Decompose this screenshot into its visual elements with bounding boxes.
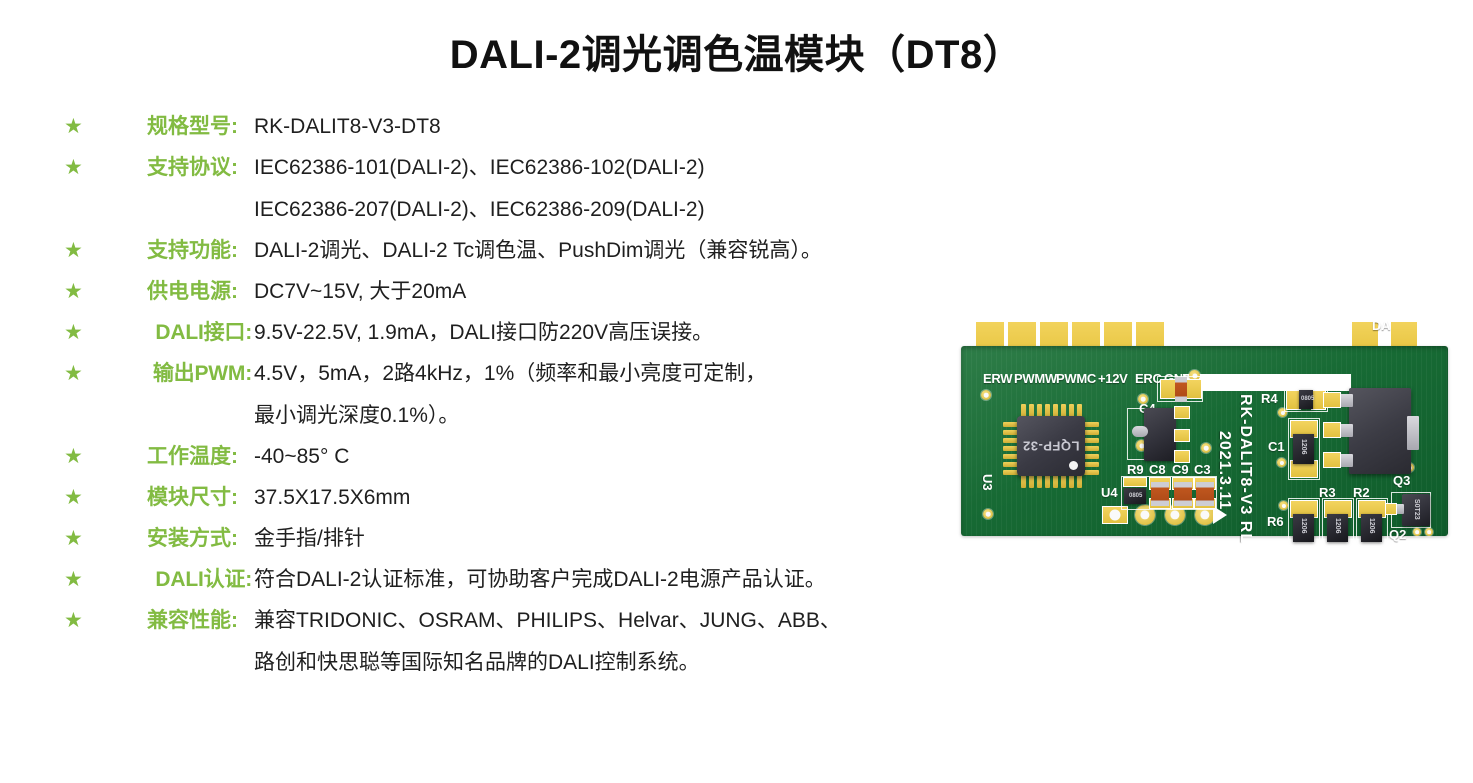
part-code: 0805 — [1129, 493, 1142, 499]
spec-row: ★ 工作温度: -40~85° C — [64, 442, 964, 472]
part-code: 1206 — [1300, 439, 1307, 455]
refdes-c8: C8 — [1149, 462, 1166, 477]
r4-component: 0805 — [1299, 390, 1313, 409]
pad — [1123, 477, 1147, 487]
pad — [1323, 422, 1341, 438]
star-icon: ★ — [64, 609, 90, 633]
spec-value: DALI-2调光、DALI-2 Tc调色温、PushDim调光（兼容锐高）。 — [242, 236, 964, 266]
spec-row: ★ 安装方式: 金手指/排针 — [64, 524, 964, 554]
via — [1277, 458, 1286, 467]
refdes-q3: Q3 — [1393, 473, 1410, 488]
spec-value-line: 符合DALI-2认证标准，可协助客户完成DALI-2电源产品认证。 — [254, 565, 964, 595]
spec-row: ★ 供电电源: DC7V~15V, 大于20mA — [64, 277, 964, 307]
spec-value-line: 4.5V，5mA，2路4kHz，1%（频率和最小亮度可定制， — [254, 359, 964, 389]
spec-value-line: 路创和快思聪等国际知名品牌的DALI控制系统。 — [254, 648, 964, 678]
spec-value: 符合DALI-2认证标准，可协助客户完成DALI-2电源产品认证。 — [252, 565, 964, 595]
c8-component — [1151, 482, 1169, 506]
spec-row: ★ 输出PWM: 4.5V，5mA，2路4kHz，1%（频率和最小亮度可定制， … — [64, 359, 964, 431]
spec-row: ★ 模块尺寸: 37.5X17.5X6mm — [64, 483, 964, 513]
chip-marking-text: LQFP-32 — [1017, 439, 1085, 454]
star-icon: ★ — [64, 486, 90, 510]
star-icon: ★ — [64, 156, 90, 180]
spec-value-line: IEC62386-101(DALI-2)、IEC62386-102(DALI-2… — [254, 153, 964, 183]
c9-component — [1174, 482, 1192, 506]
c3-component — [1196, 482, 1214, 506]
spec-value-line: 37.5X17.5X6mm — [254, 483, 964, 513]
c4-component — [1175, 377, 1187, 402]
refdes-r9: R9 — [1127, 462, 1144, 477]
spec-value: RK-DALIT8-V3-DT8 — [242, 112, 964, 142]
spec-row: ★ DALI认证: 符合DALI-2认证标准，可协助客户完成DALI-2电源产品… — [64, 565, 964, 595]
spec-value: IEC62386-101(DALI-2)、IEC62386-102(DALI-2… — [242, 153, 964, 225]
spec-value: 金手指/排针 — [242, 524, 964, 554]
refdes-q2: Q2 — [1389, 527, 1406, 542]
via — [1413, 528, 1421, 536]
pin1-dot — [1069, 461, 1078, 470]
silkscreen-board-name: RK-DALIT8-V3 RL — [1236, 394, 1254, 544]
spec-value-line: -40~85° C — [254, 442, 964, 472]
star-icon: ★ — [64, 239, 90, 263]
spec-label: 支持功能: — [90, 236, 242, 266]
spec-row: ★ 支持协议: IEC62386-101(DALI-2)、IEC62386-10… — [64, 153, 964, 225]
refdes-u3: U3 — [980, 474, 995, 491]
refdes-u4: U4 — [1101, 485, 1118, 500]
pad — [1385, 503, 1397, 515]
via — [1201, 443, 1211, 453]
via — [981, 390, 991, 400]
spec-label: DALI认证: — [90, 565, 252, 595]
part-code: 1206 — [1300, 518, 1307, 534]
star-icon: ★ — [64, 115, 90, 139]
refdes-r6: R6 — [1267, 514, 1284, 529]
spec-value: 37.5X17.5X6mm — [242, 483, 964, 513]
spec-value: 兼容TRIDONIC、OSRAM、PHILIPS、Helvar、JUNG、ABB… — [242, 606, 964, 678]
spec-label: 规格型号: — [90, 112, 242, 142]
via — [983, 509, 993, 519]
spec-row: ★ 兼容性能: 兼容TRIDONIC、OSRAM、PHILIPS、Helvar、… — [64, 606, 964, 678]
part-code: 1206 — [1334, 518, 1341, 534]
star-icon: ★ — [64, 280, 90, 304]
spec-row: ★ DALI接口: 9.5V-22.5V, 1.9mA，DALI接口防220V高… — [64, 318, 964, 348]
silkscreen-board-date: 2021.3.11 — [1215, 431, 1233, 510]
c1-component: 1206 — [1293, 434, 1314, 464]
star-icon: ★ — [64, 321, 90, 345]
refdes-c1: C1 — [1268, 439, 1285, 454]
spec-label: 模块尺寸: — [90, 483, 242, 513]
spec-value-line: 金手指/排针 — [254, 524, 964, 554]
spec-label: 供电电源: — [90, 277, 242, 307]
spec-value-line: IEC62386-207(DALI-2)、IEC62386-209(DALI-2… — [254, 195, 964, 225]
spec-value-line: RK-DALIT8-V3-DT8 — [254, 112, 964, 142]
spec-label: 安装方式: — [90, 524, 242, 554]
lqfp-chip-body: LQFP-32 — [1017, 416, 1085, 476]
q3-mosfet — [1349, 388, 1411, 474]
r9-component: 0805 — [1124, 488, 1146, 504]
via — [1279, 501, 1288, 510]
spec-value: 4.5V，5mA，2路4kHz，1%（频率和最小亮度可定制， 最小调光深度0.1… — [252, 359, 964, 431]
r6-component: 1206 — [1293, 514, 1314, 542]
refdes-r4: R4 — [1261, 391, 1278, 406]
pad — [1174, 406, 1190, 419]
pin-label-12v: +12V — [1098, 371, 1128, 386]
spec-label: 兼容性能: — [90, 606, 242, 636]
star-icon: ★ — [64, 445, 90, 469]
star-icon: ★ — [64, 527, 90, 551]
part-code: S0T23 — [1413, 499, 1420, 520]
pin-label-da: DA — [1372, 318, 1390, 333]
pin-label-pwmc: PWMC — [1056, 371, 1096, 386]
q2-transistor: S0T23 — [1402, 494, 1430, 526]
r2-component: 1206 — [1361, 514, 1382, 542]
regulator-lead — [1132, 426, 1148, 437]
pin-label-erw: ERW — [983, 371, 1012, 386]
pad — [1174, 429, 1190, 442]
pad — [1323, 392, 1341, 408]
spec-list: ★ 规格型号: RK-DALIT8-V3-DT8 ★ 支持协议: IEC6238… — [64, 112, 964, 689]
spec-row: ★ 支持功能: DALI-2调光、DALI-2 Tc调色温、PushDim调光（… — [64, 236, 964, 266]
spec-label: DALI接口: — [90, 318, 252, 348]
part-code: 0805 — [1301, 396, 1314, 402]
via — [1425, 528, 1433, 536]
q3-tab-lead — [1407, 416, 1419, 450]
spec-value: 9.5V-22.5V, 1.9mA，DALI接口防220V高压误接。 — [252, 318, 964, 348]
spec-value-line: DC7V~15V, 大于20mA — [254, 277, 964, 307]
spec-value-line: 最小调光深度0.1%）。 — [254, 401, 964, 431]
spec-value-line: 9.5V-22.5V, 1.9mA，DALI接口防220V高压误接。 — [254, 318, 964, 348]
spec-value: DC7V~15V, 大于20mA — [242, 277, 964, 307]
pcb-board-image: ERW PWMW PWMC +12V ERC GND DA — [953, 303, 1453, 548]
pcb-substrate: ERW PWMW PWMC +12V ERC GND DA — [961, 346, 1448, 536]
spec-label: 输出PWM: — [90, 359, 252, 389]
spec-value: -40~85° C — [242, 442, 964, 472]
pad — [1323, 452, 1341, 468]
regulator-chip — [1144, 408, 1176, 461]
spec-value-line: 兼容TRIDONIC、OSRAM、PHILIPS、Helvar、JUNG、ABB… — [254, 606, 964, 636]
r3-component: 1206 — [1327, 514, 1348, 542]
spec-label: 支持协议: — [90, 153, 242, 183]
refdes-c3: C3 — [1194, 462, 1211, 477]
spec-row: ★ 规格型号: RK-DALIT8-V3-DT8 — [64, 112, 964, 142]
pin-label-pwmw: PWMW — [1014, 371, 1057, 386]
spec-value-line: DALI-2调光、DALI-2 Tc调色温、PushDim调光（兼容锐高）。 — [254, 236, 964, 266]
page-title: DALI-2调光调色温模块（DT8） — [0, 22, 1473, 80]
star-icon: ★ — [64, 362, 90, 386]
spec-label: 工作温度: — [90, 442, 242, 472]
refdes-c9: C9 — [1172, 462, 1189, 477]
pad — [1185, 379, 1202, 399]
part-code: 1206 — [1368, 518, 1375, 534]
lqfp-32-chip: LQFP-32 — [1003, 404, 1099, 488]
star-icon: ★ — [64, 568, 90, 592]
